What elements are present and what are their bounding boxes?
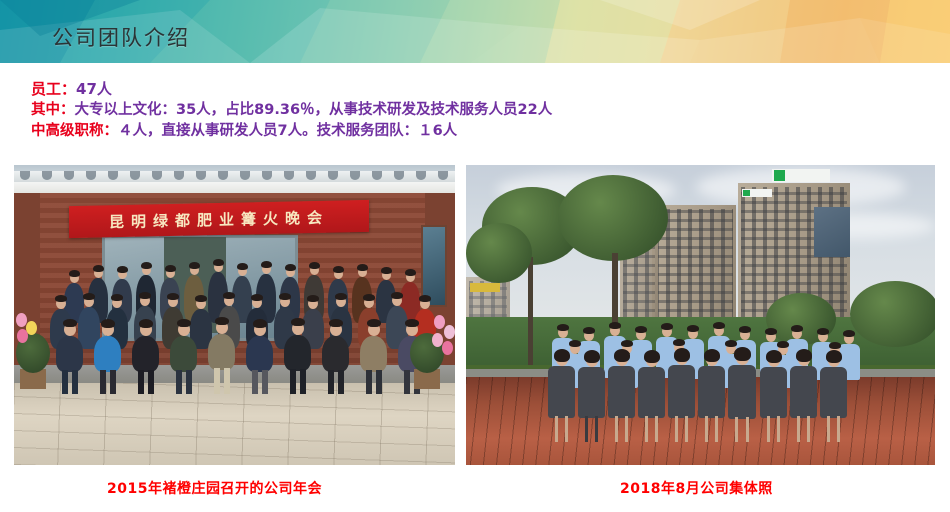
right-photo-billboard	[470, 283, 500, 292]
right-photo-building-glass-panel	[814, 207, 850, 257]
right-photo-rooftop-logo	[774, 170, 785, 181]
photo-caption-right: 2018年8月公司集体照	[620, 478, 773, 498]
right-photo-facade-logo	[743, 190, 750, 196]
left-photo-red-banner: 昆明绿都肥业篝火晚会	[69, 200, 369, 238]
summary-line-employees: 员工：47人	[31, 79, 911, 100]
photo-annual-meeting-2015: 昆明绿都肥业篝火晚会	[14, 165, 455, 465]
summary-line-education-label: 其中：	[31, 102, 75, 118]
left-photo-banner-text: 昆明绿都肥业篝火晚会	[69, 206, 369, 233]
left-photo-stone-plaza	[14, 383, 455, 465]
photo-group-2018-08	[466, 165, 935, 465]
right-photo-palm-canopy	[850, 281, 935, 347]
summary-line-titles-value: ４人，直接从事研发人员7人。技术服务团队：１6人	[118, 123, 457, 139]
right-photo-tree-canopy	[466, 223, 532, 283]
photo-caption-left: 2015年褚橙庄园召开的公司年会	[107, 478, 322, 498]
summary-line-titles: 中高级职称：４人，直接从事研发人员7人。技术服务团队：１6人	[31, 121, 911, 142]
summary-line-titles-label: 中高级职称：	[31, 123, 118, 139]
summary-line-employees-label: 员工：	[31, 80, 76, 98]
summary-line-education-value: 大专以上文化：35人，占比89.36％，从事技术研发及技术服务人员22人	[75, 102, 553, 118]
summary-line-education: 其中：大专以上文化：35人，占比89.36％，从事技术研发及技术服务人员22人	[31, 100, 911, 121]
team-summary-text: 员工：47人 其中：大专以上文化：35人，占比89.36％，从事技术研发及技术服…	[31, 79, 911, 141]
right-photo-tree-canopy	[558, 175, 668, 261]
summary-line-employees-value: 47人	[76, 80, 112, 98]
right-photo-tree-trunk	[528, 257, 533, 367]
slide-canvas: 公司团队介绍 员工：47人 其中：大专以上文化：35人，占比89.36％，从事技…	[0, 0, 950, 512]
page-title: 公司团队介绍	[52, 22, 190, 52]
slide-header-banner: 公司团队介绍	[0, 0, 950, 63]
